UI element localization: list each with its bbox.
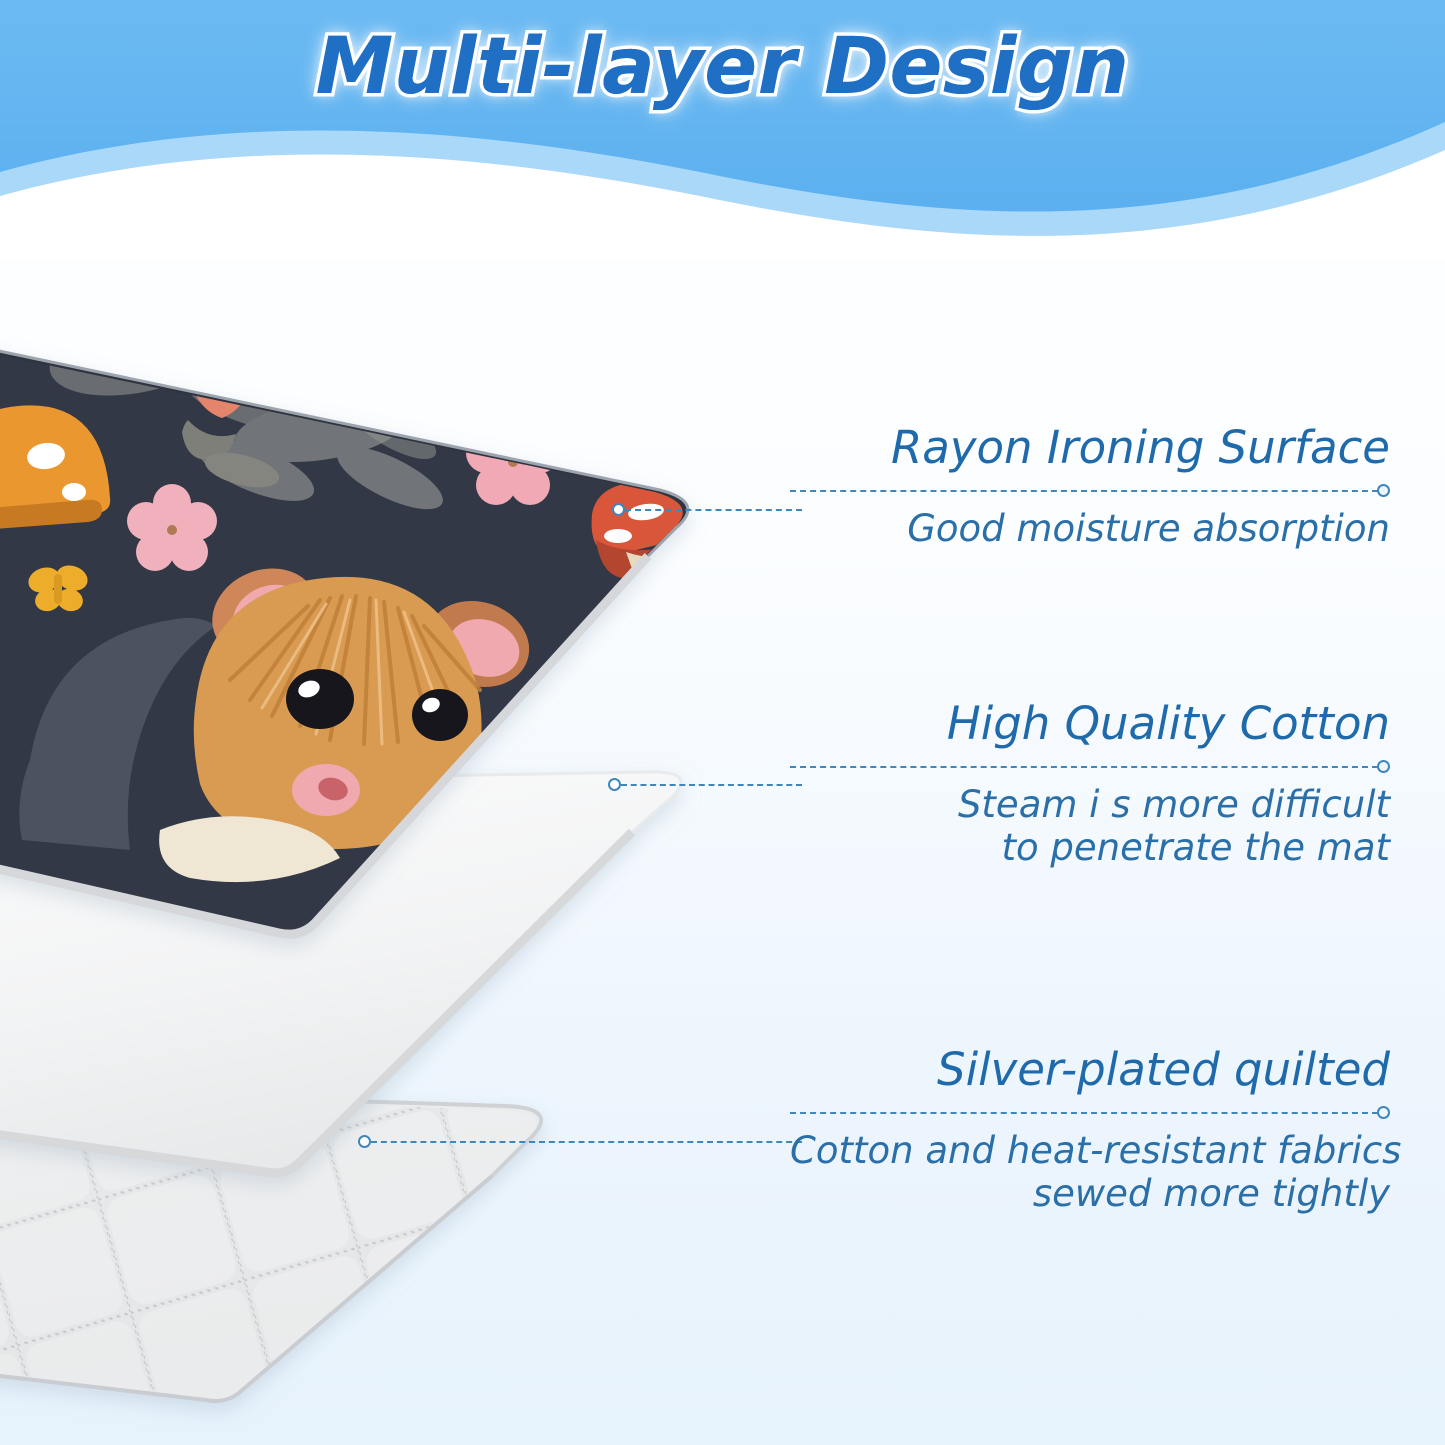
- callout-1-subtext: Good moisture absorption: [790, 507, 1390, 551]
- leader-start-dot-1: [612, 503, 625, 516]
- leader-dash-1: [625, 509, 802, 511]
- callout-high-quality-cotton: High Quality Cotton Steam i s more diffi…: [790, 700, 1390, 870]
- callout-2-endcap-dot: [1377, 760, 1390, 773]
- callout-2-subtext-line-1: Steam i s more difficult: [790, 783, 1390, 827]
- motif-red-mushroom: [592, 482, 739, 582]
- leader-start-dot-3: [358, 1135, 371, 1148]
- leader-line-3: [358, 1135, 802, 1149]
- callout-3-subtext-line-1: Cotton and heat-resistant fabrics: [790, 1129, 1390, 1173]
- callout-1-divider: [790, 481, 1390, 501]
- callout-2-subtext-line-2: to penetrate the mat: [790, 826, 1390, 870]
- callout-rayon-ironing-surface: Rayon Ironing Surface Good moisture abso…: [790, 424, 1390, 550]
- guinea-pig-nose: [292, 764, 360, 816]
- callout-3-subtext: Cotton and heat-resistant fabrics sewed …: [790, 1129, 1390, 1216]
- callout-2-subtext: Steam i s more difficult to penetrate th…: [790, 783, 1390, 870]
- leader-line-2: [608, 778, 802, 792]
- callout-2-dash: [790, 766, 1378, 768]
- leader-line-1: [612, 503, 802, 517]
- callout-3-heading: Silver-plated quilted: [790, 1046, 1390, 1094]
- callout-2-divider: [790, 757, 1390, 777]
- guinea-pig-eye-left: [286, 669, 354, 729]
- callout-1-endcap-dot: [1377, 484, 1390, 497]
- leader-dash-3: [371, 1141, 802, 1143]
- leader-dash-2: [621, 784, 802, 786]
- callout-1-dash: [790, 490, 1378, 492]
- leader-start-dot-2: [608, 778, 621, 791]
- infographic-canvas: Multi-layer Design Multi-layer Design: [0, 0, 1445, 1445]
- callout-3-divider: [790, 1103, 1390, 1123]
- callout-3-subtext-line-2: sewed more tightly: [790, 1172, 1390, 1216]
- callout-silver-plated-quilted: Silver-plated quilted Cotton and heat-re…: [790, 1046, 1390, 1216]
- callout-1-heading: Rayon Ironing Surface: [790, 424, 1390, 472]
- callout-2-heading: High Quality Cotton: [790, 700, 1390, 748]
- callout-3-endcap-dot: [1377, 1106, 1390, 1119]
- callout-3-dash: [790, 1112, 1378, 1114]
- guinea-pig-eye-right: [412, 689, 468, 741]
- callout-1-subtext-line-1: Good moisture absorption: [790, 507, 1390, 551]
